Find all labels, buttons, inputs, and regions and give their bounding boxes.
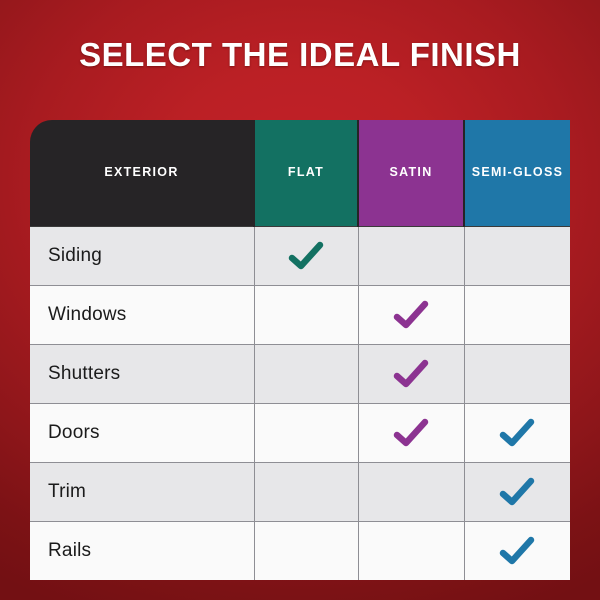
page-title: SELECT THE IDEAL FINISH <box>0 36 600 74</box>
row-label: Siding <box>30 227 254 286</box>
check-icon <box>465 522 571 580</box>
table-body: SidingWindowsShuttersDoorsTrimRails <box>30 227 570 581</box>
row-label: Trim <box>30 463 254 522</box>
check-icon <box>465 404 571 462</box>
finish-table: EXTERIOR FLAT SATIN SEMI-GLOSS SidingWin… <box>30 120 570 580</box>
table-row: Trim <box>30 463 570 522</box>
table-row: Siding <box>30 227 570 286</box>
cell-siding-flat <box>254 227 358 286</box>
cell-windows-semi-gloss <box>464 286 570 345</box>
cell-shutters-satin <box>358 345 464 404</box>
check-icon <box>255 227 358 285</box>
cell-siding-semi-gloss <box>464 227 570 286</box>
table-row: Shutters <box>30 345 570 404</box>
row-label: Rails <box>30 522 254 581</box>
column-header-semi-gloss: SEMI-GLOSS <box>464 120 570 227</box>
check-icon <box>359 404 464 462</box>
cell-shutters-flat <box>254 345 358 404</box>
cell-trim-flat <box>254 463 358 522</box>
table-header: EXTERIOR FLAT SATIN SEMI-GLOSS <box>30 120 570 227</box>
row-label: Windows <box>30 286 254 345</box>
column-header-satin: SATIN <box>358 120 464 227</box>
column-header-exterior: EXTERIOR <box>30 120 254 227</box>
cell-rails-satin <box>358 522 464 581</box>
cell-doors-semi-gloss <box>464 404 570 463</box>
column-header-flat: FLAT <box>254 120 358 227</box>
poster-canvas: SELECT THE IDEAL FINISH EXTERIOR FLAT SA… <box>0 0 600 600</box>
cell-windows-satin <box>358 286 464 345</box>
table-row: Rails <box>30 522 570 581</box>
table-row: Windows <box>30 286 570 345</box>
table-header-row: EXTERIOR FLAT SATIN SEMI-GLOSS <box>30 120 570 227</box>
cell-trim-semi-gloss <box>464 463 570 522</box>
check-icon <box>359 286 464 344</box>
cell-doors-satin <box>358 404 464 463</box>
finish-table-container: EXTERIOR FLAT SATIN SEMI-GLOSS SidingWin… <box>30 120 570 573</box>
row-label: Doors <box>30 404 254 463</box>
cell-doors-flat <box>254 404 358 463</box>
check-icon <box>359 345 464 403</box>
table-row: Doors <box>30 404 570 463</box>
row-label: Shutters <box>30 345 254 404</box>
cell-trim-satin <box>358 463 464 522</box>
check-icon <box>465 463 571 521</box>
cell-siding-satin <box>358 227 464 286</box>
cell-rails-flat <box>254 522 358 581</box>
cell-shutters-semi-gloss <box>464 345 570 404</box>
cell-rails-semi-gloss <box>464 522 570 581</box>
cell-windows-flat <box>254 286 358 345</box>
